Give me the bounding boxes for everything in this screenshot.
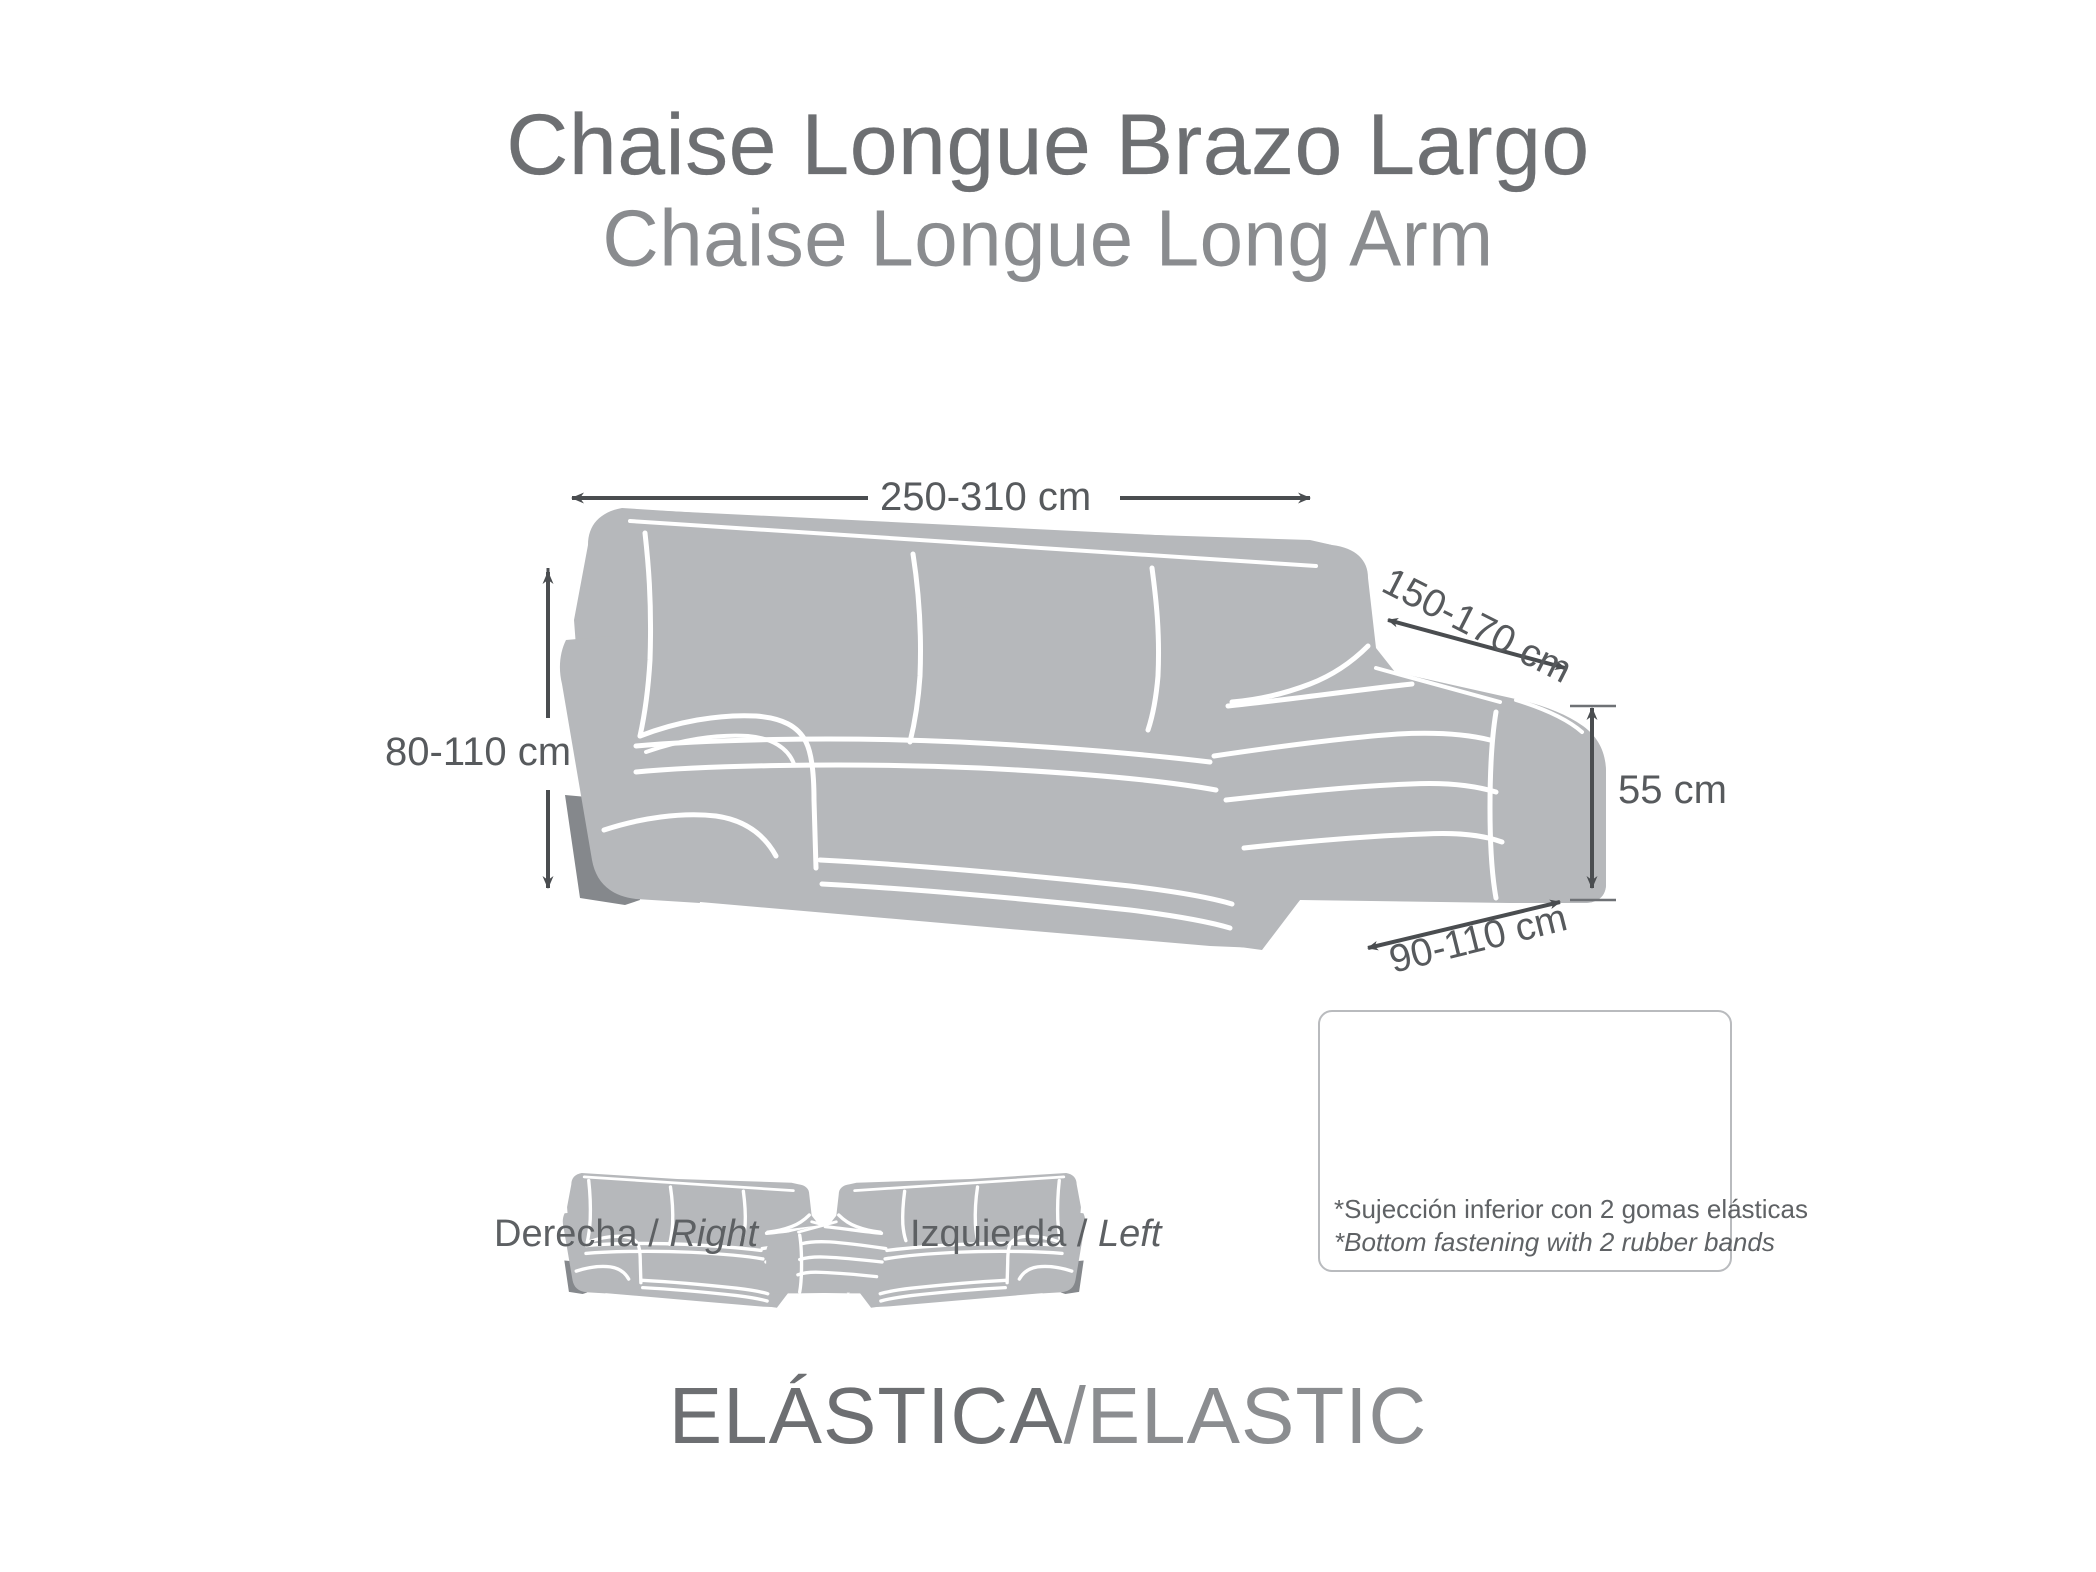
sofa-chaise-seat (1215, 672, 1530, 896)
variant-left-sep: / (1066, 1213, 1098, 1255)
footer-spanish: ELÁSTICA (669, 1371, 1064, 1460)
variant-left-es: Izquierda (910, 1213, 1066, 1255)
title-english: Chaise Longue Long Arm (0, 194, 2096, 283)
sofa-body (574, 508, 1606, 948)
footer-english: /ELASTIC (1064, 1371, 1428, 1460)
diagram-canvas: Chaise Longue Brazo Largo Chaise Longue … (0, 0, 2096, 1572)
thumb-right-shadow (564, 1260, 587, 1294)
dimension-height-label: 80-110 cm (385, 730, 571, 775)
legend-box: *Sujección inferior con 2 gomas elástica… (1318, 1010, 1732, 1272)
dimension-lines (548, 498, 1616, 948)
variant-right-sep: / (638, 1213, 670, 1255)
sofa-backrest (590, 509, 1368, 650)
title-spanish: Chaise Longue Brazo Largo (0, 100, 2096, 191)
sofa-base-shadow (565, 795, 640, 905)
dimension-chaise-depth-label: 90-110 cm (1385, 896, 1572, 983)
page-title: Chaise Longue Brazo Largo Chaise Longue … (0, 100, 2096, 283)
sofa-front-skirt (640, 852, 1300, 950)
variant-left-en: Left (1098, 1213, 1161, 1255)
dimension-depth-label: 150-170 cm (1375, 560, 1578, 693)
sofa-left-arm (560, 636, 700, 903)
sofa-right-arm (1500, 702, 1606, 903)
variant-caption-right: Derecha / Right (494, 1213, 758, 1256)
legend-note-spanish: *Sujección inferior con 2 gomas elástica… (1334, 1194, 1808, 1225)
footer-label: ELÁSTICA/ELASTIC (0, 1370, 2096, 1462)
variant-right-en: Right (669, 1213, 758, 1255)
variant-right-es: Derecha (494, 1213, 638, 1255)
thumb-left-skirt (860, 1278, 1061, 1308)
sofa-main-graphic (560, 508, 1606, 950)
legend-note-english: *Bottom fastening with 2 rubber bands (1334, 1227, 1775, 1258)
thumb-left-shadow (1061, 1260, 1084, 1294)
dimension-width-label: 250-310 cm (880, 475, 1091, 520)
dimension-seat-height-label: 55 cm (1618, 768, 1727, 813)
variant-caption-left: Izquierda / Left (910, 1213, 1161, 1256)
thumb-right-skirt (587, 1278, 788, 1308)
